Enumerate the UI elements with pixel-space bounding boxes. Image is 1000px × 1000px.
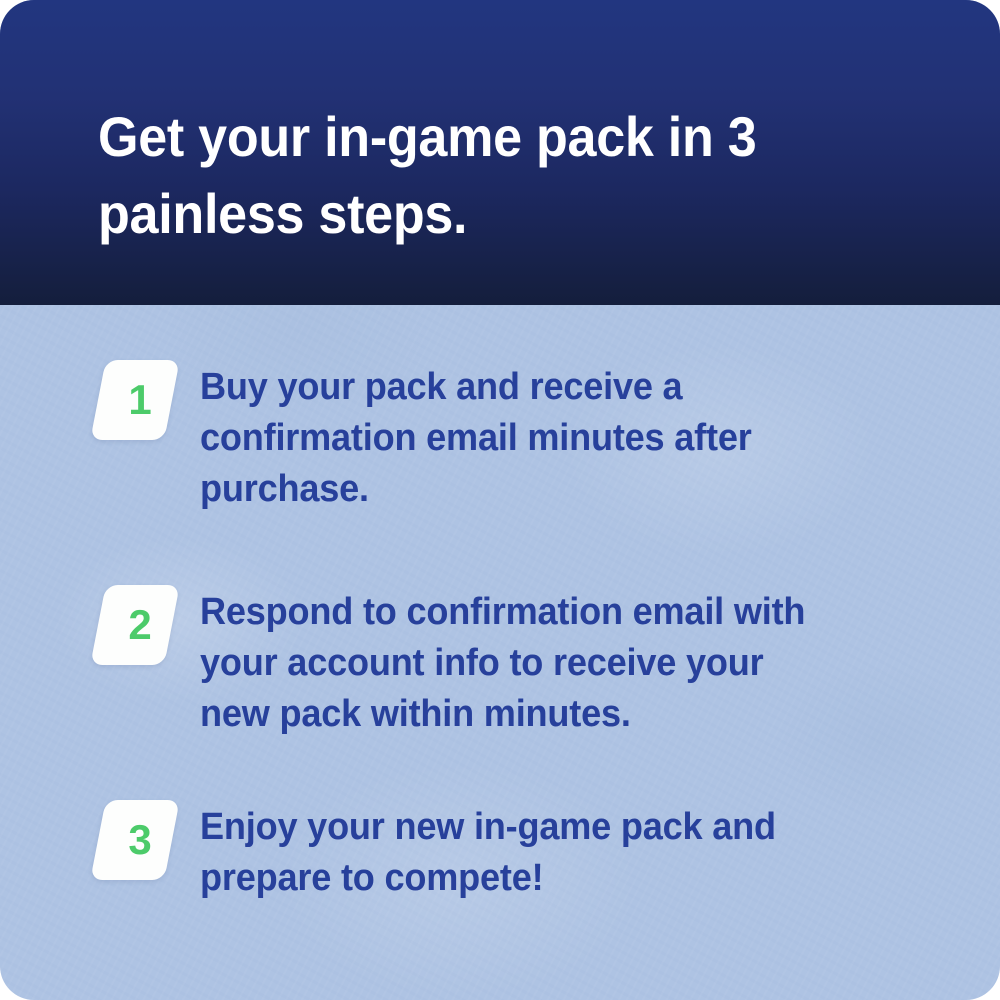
step-number-badge: 1 xyxy=(98,360,172,440)
step-number: 1 xyxy=(98,360,172,440)
step-number: 3 xyxy=(98,800,172,880)
list-item: 2 Respond to confirmation email with you… xyxy=(98,585,860,740)
list-item: 1 Buy your pack and receive a confirmati… xyxy=(98,360,860,515)
step-number-badge: 3 xyxy=(98,800,172,880)
step-description: Respond to confirmation email with your … xyxy=(200,587,827,740)
list-item: 3 Enjoy your new in-game pack and prepar… xyxy=(98,800,860,904)
step-description: Enjoy your new in-game pack and prepare … xyxy=(200,802,827,904)
page-title: Get your in-game pack in 3 painless step… xyxy=(98,98,842,252)
step-number-badge: 2 xyxy=(98,585,172,665)
header-band: Get your in-game pack in 3 painless step… xyxy=(0,0,1000,305)
step-description: Buy your pack and receive a confirmation… xyxy=(200,362,827,515)
promo-card: Get your in-game pack in 3 painless step… xyxy=(0,0,1000,1000)
step-number: 2 xyxy=(98,585,172,665)
